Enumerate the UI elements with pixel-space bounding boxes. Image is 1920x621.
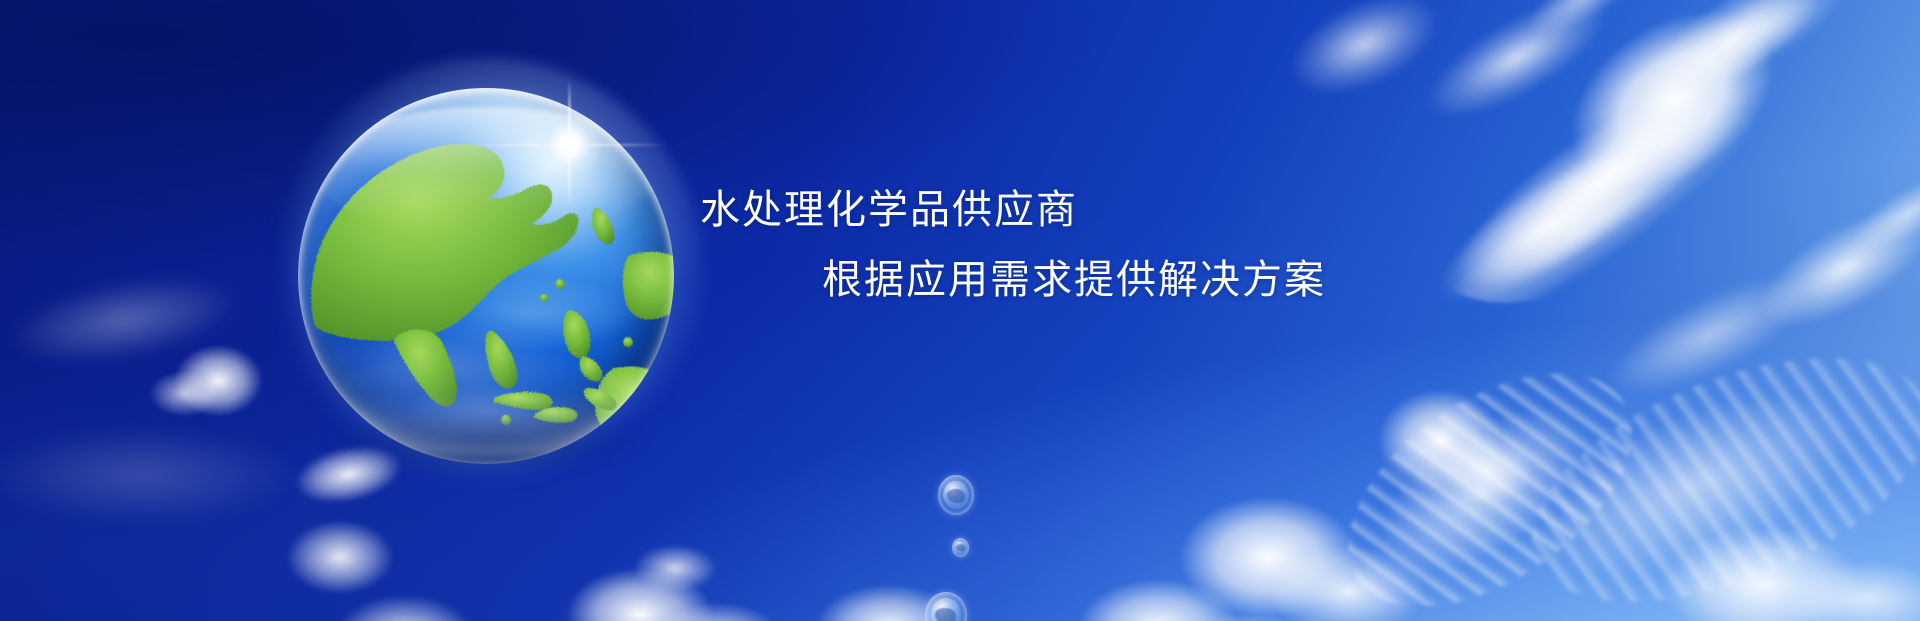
continents-icon — [298, 88, 674, 464]
globe-graphic — [298, 88, 674, 464]
water-droplet-icon — [938, 475, 974, 515]
globe-sphere — [298, 88, 674, 464]
hero-banner: 水处理化学品供应商 根据应用需求提供解决方案 — [0, 0, 1920, 621]
water-droplet-icon — [952, 538, 969, 557]
banner-headline: 水处理化学品供应商 根据应用需求提供解决方案 — [700, 190, 1700, 300]
globe-shadow — [328, 411, 644, 471]
headline-line-1: 水处理化学品供应商 — [700, 190, 1700, 230]
headline-line-2: 根据应用需求提供解决方案 — [822, 260, 1700, 300]
